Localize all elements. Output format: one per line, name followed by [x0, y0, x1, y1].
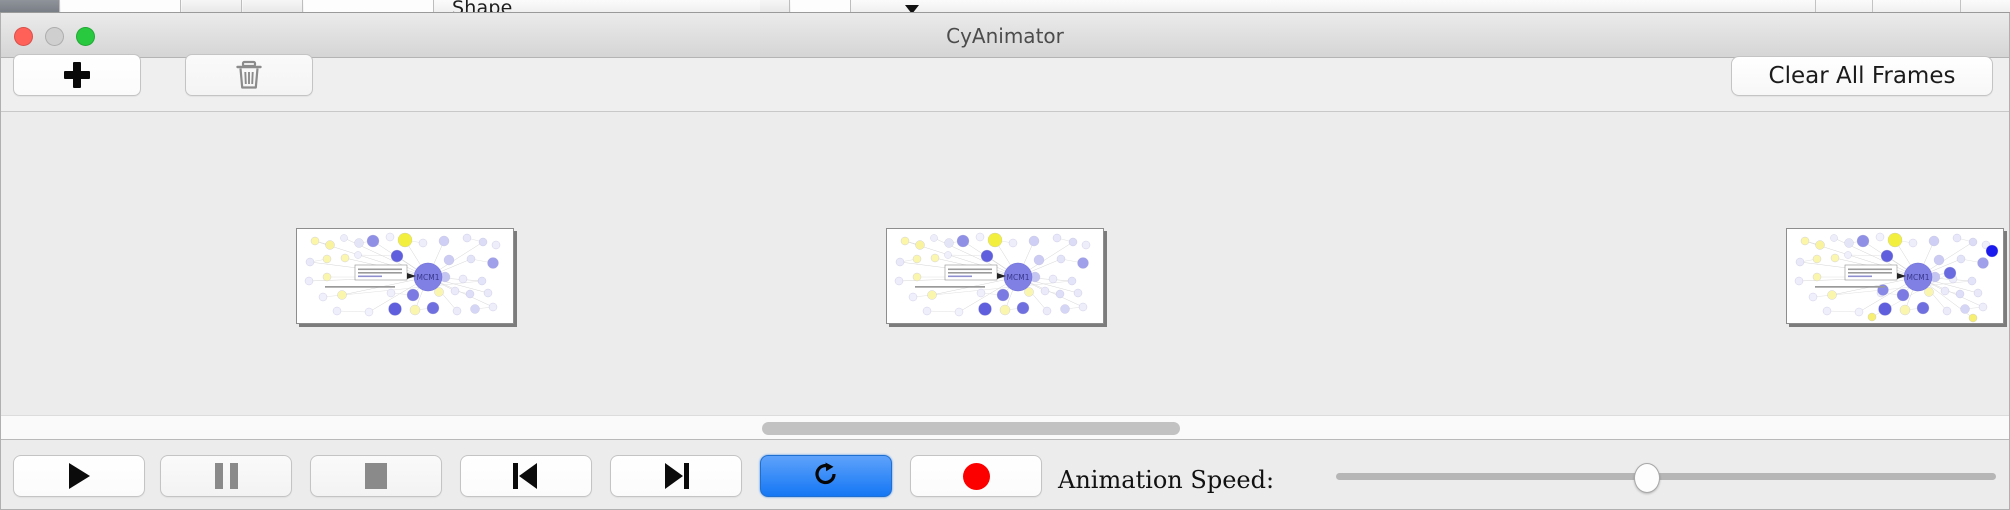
- window-title: CyAnimator: [0, 24, 2010, 48]
- bg-segment: [243, 0, 303, 13]
- timeline-frame[interactable]: MCM1: [886, 228, 1104, 324]
- network-thumbnail-graphic: MCM1: [297, 229, 514, 324]
- plus-icon: [64, 62, 90, 88]
- stop-icon: [365, 463, 387, 489]
- timeline-panel[interactable]: MCM1MCM1MCM1 2131415161718 Seconds: [0, 112, 2010, 415]
- slider-thumb[interactable]: [1634, 463, 1660, 493]
- bg-segment: [61, 0, 181, 13]
- delete-frame-button[interactable]: [185, 54, 313, 96]
- bg-divider: [1960, 0, 1961, 13]
- skip-to-start-icon: [513, 463, 539, 489]
- bg-caret-icon: [905, 5, 919, 13]
- svg-text:MCM1: MCM1: [417, 273, 440, 282]
- frame-thumbnail: MCM1: [887, 229, 1103, 323]
- bg-segment: [760, 0, 790, 13]
- timeline-scrollbar-thumb[interactable]: [762, 422, 1180, 435]
- network-thumbnail-graphic: MCM1: [1787, 229, 2004, 324]
- skip-to-end-icon: [663, 463, 689, 489]
- add-frame-button[interactable]: [13, 54, 141, 96]
- loop-icon: [811, 459, 841, 493]
- skip-end-button[interactable]: [610, 455, 742, 497]
- background-window-strip: Shape: [0, 0, 2010, 13]
- bg-segment: [791, 0, 851, 13]
- play-button[interactable]: [13, 455, 145, 497]
- play-icon: [69, 463, 90, 489]
- frame-thumbnail: MCM1: [1787, 229, 2003, 323]
- frame-thumbnail: MCM1: [297, 229, 513, 323]
- bg-segment: [0, 0, 60, 13]
- bg-segment: [304, 0, 434, 13]
- clear-all-frames-button[interactable]: Clear All Frames: [1731, 56, 1993, 96]
- animation-speed-label: Animation Speed:: [1058, 466, 1274, 494]
- record-button[interactable]: [910, 455, 1042, 497]
- bg-divider: [1815, 0, 1816, 13]
- transport-bar: Animation Speed:: [0, 441, 2010, 510]
- timeline-scrollbar-track[interactable]: [0, 415, 2010, 440]
- slider-track[interactable]: [1336, 473, 1996, 480]
- svg-text:MCM1: MCM1: [1007, 273, 1030, 282]
- network-thumbnail-graphic: MCM1: [887, 229, 1104, 324]
- timeline-frame[interactable]: MCM1: [296, 228, 514, 324]
- background-window-label: Shape: [452, 0, 513, 13]
- pause-icon: [215, 463, 238, 489]
- bg-segment: [182, 0, 242, 13]
- loop-button[interactable]: [760, 455, 892, 497]
- cyanimator-window: Shape CyAnimator Clear All Frames MCM1MC…: [0, 0, 2010, 510]
- animation-speed-slider[interactable]: [1336, 455, 1996, 497]
- record-icon: [963, 463, 990, 490]
- bg-divider: [1872, 0, 1873, 13]
- pause-button[interactable]: [160, 455, 292, 497]
- svg-text:MCM1: MCM1: [1907, 273, 1930, 282]
- title-bar: CyAnimator: [0, 13, 2010, 58]
- trash-icon: [234, 59, 264, 91]
- stop-button[interactable]: [310, 455, 442, 497]
- timeline-frame[interactable]: MCM1: [1786, 228, 2004, 324]
- skip-start-button[interactable]: [460, 455, 592, 497]
- background-toolbar: [0, 0, 2010, 13]
